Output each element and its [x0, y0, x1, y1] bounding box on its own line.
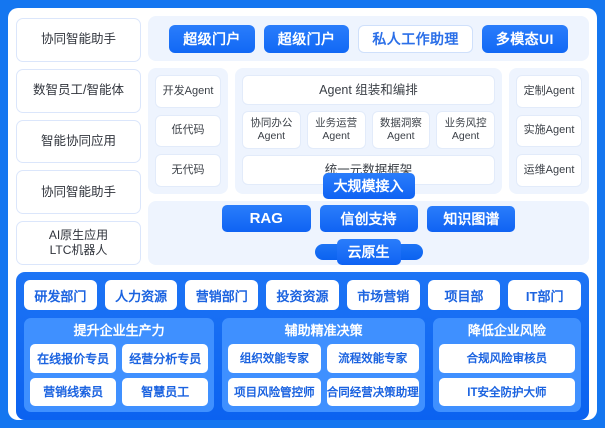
agent-line2: Agent	[315, 130, 357, 143]
pill-personal-assistant[interactable]: 私人工作助理	[358, 25, 472, 53]
chip-dev-agent[interactable]: 开发Agent	[155, 75, 221, 108]
sidebar-item-4[interactable]: 协同智能助手	[16, 170, 141, 214]
group-risk-reduction: 降低企业风险 合规风险审核员 IT安全防护大师	[433, 318, 581, 412]
sidebar-item-3[interactable]: 智能协同应用	[16, 120, 141, 164]
group-row: IT安全防护大师	[439, 378, 575, 406]
chip-office-agent[interactable]: 协同办公Agent	[242, 111, 301, 149]
chip-operations-agent[interactable]: 业务运营Agent	[307, 111, 366, 149]
group-decision-support: 辅助精准决策 组织效能专家 流程效能专家 项目风险管控师 合同经营决策助理	[222, 318, 425, 412]
sidebar-item-label: 数智员工/智能体	[33, 83, 124, 98]
group-title: 降低企业风险	[439, 323, 575, 339]
department-row: 研发部门 人力资源 营销部门 投资资源 市场营销 项目部 IT部门	[24, 280, 581, 310]
business-region: 研发部门 人力资源 营销部门 投资资源 市场营销 项目部 IT部门 提升企业生产…	[16, 272, 589, 420]
agent-chip-row: 协同办公Agent 业务运营Agent 数据洞察Agent 业务风控Agent	[242, 111, 495, 149]
dept-it[interactable]: IT部门	[508, 280, 581, 310]
pill-large-scale-access[interactable]: 大规模接入	[323, 173, 415, 199]
agent-line1: 数据洞察	[380, 117, 422, 130]
chip-custom-agent[interactable]: 定制Agent	[516, 75, 582, 108]
upper-right-column: 超级门户 超级门户 私人工作助理 多模态UI 开发Agent 低代码 无代码 A…	[148, 16, 589, 265]
chip-project-risk-controller[interactable]: 项目风险管控师	[228, 378, 320, 406]
chip-online-quotation-specialist[interactable]: 在线报价专员	[30, 344, 116, 372]
capability-lower-row: 大规模接入 信创支持 云原生 多云适配 多租户	[315, 244, 423, 260]
agent-line1: 业务运营	[315, 117, 357, 130]
architecture-card: 协同智能助手 数智员工/智能体 智能协同应用 协同智能助手 AI原生应用 LTC…	[8, 8, 597, 420]
page-background: 协同智能助手 数智员工/智能体 智能协同应用 协同智能助手 AI原生应用 LTC…	[0, 0, 605, 428]
dept-market[interactable]: 市场营销	[347, 280, 420, 310]
chip-low-code[interactable]: 低代码	[155, 115, 221, 148]
pill-xinchuang-support[interactable]: 信创支持	[330, 206, 408, 232]
pill-rag[interactable]: RAG	[222, 205, 311, 232]
sidebar-item-2[interactable]: 数智员工/智能体	[16, 69, 141, 113]
sidebar-item-1[interactable]: 协同智能助手	[16, 18, 141, 62]
chip-risk-control-agent[interactable]: 业务风控Agent	[436, 111, 495, 149]
group-row: 在线报价专员 经营分析专员	[30, 344, 208, 372]
group-title: 辅助精准决策	[228, 323, 419, 339]
pill-multimodal-ui[interactable]: 多模态UI	[482, 25, 568, 53]
pill-knowledge-graph[interactable]: 知识图谱	[427, 206, 515, 232]
dept-investment[interactable]: 投资资源	[266, 280, 339, 310]
chip-contract-decision-assistant[interactable]: 合同经营决策助理	[327, 378, 419, 406]
upper-region: 协同智能助手 数智员工/智能体 智能协同应用 协同智能助手 AI原生应用 LTC…	[16, 16, 589, 265]
capability-panel: RAG Agent 知识图谱 大规模接入 信创支持 云原生 多云适配 多租户	[148, 201, 589, 265]
agent-line2: Agent	[380, 130, 422, 143]
sidebar-item-label: 协同智能助手	[41, 32, 116, 47]
agent-line1: 协同办公	[250, 117, 292, 130]
group-row: 项目风险管控师 合同经营决策助理	[228, 378, 419, 406]
group-title: 提升企业生产力	[30, 323, 208, 339]
sidebar-item-label: AI原生应用 LTC机器人	[49, 228, 108, 257]
dev-tools-panel: 开发Agent 低代码 无代码	[148, 68, 228, 194]
dept-project[interactable]: 项目部	[428, 280, 501, 310]
chip-it-security-master[interactable]: IT安全防护大师	[439, 378, 575, 406]
group-row: 合规风险审核员	[439, 344, 575, 372]
dept-hr[interactable]: 人力资源	[105, 280, 178, 310]
agent-line2: Agent	[250, 130, 292, 143]
group-row: 营销线索员 智慧员工	[30, 378, 208, 406]
top-pill-row: 超级门户 超级门户 私人工作助理 多模态UI	[148, 16, 589, 61]
pill-super-portal-2[interactable]: 超级门户	[264, 25, 350, 53]
chip-data-insight-agent[interactable]: 数据洞察Agent	[372, 111, 431, 149]
chip-process-efficiency-expert[interactable]: 流程效能专家	[327, 344, 419, 372]
sidebar-item-label: 智能协同应用	[41, 134, 116, 149]
agent-line1: 业务风控	[445, 117, 487, 130]
pill-super-portal-1[interactable]: 超级门户	[169, 25, 255, 53]
pill-cloud-native[interactable]: 云原生	[337, 239, 401, 265]
sidebar-item-label: 协同智能助手	[41, 185, 116, 200]
chip-business-analysis-specialist[interactable]: 经营分析专员	[122, 344, 208, 372]
chip-compliance-risk-auditor[interactable]: 合规风险审核员	[439, 344, 575, 372]
chip-smart-employee[interactable]: 智慧员工	[122, 378, 208, 406]
dept-marketing[interactable]: 营销部门	[185, 280, 258, 310]
chip-operations-maintenance-agent[interactable]: 运维Agent	[516, 154, 582, 187]
sidebar: 协同智能助手 数智员工/智能体 智能协同应用 协同智能助手 AI原生应用 LTC…	[16, 16, 141, 265]
chip-org-efficiency-expert[interactable]: 组织效能专家	[228, 344, 320, 372]
group-row: 组织效能专家 流程效能专家	[228, 344, 419, 372]
sidebar-item-5[interactable]: AI原生应用 LTC机器人	[16, 221, 141, 265]
chip-no-code[interactable]: 无代码	[155, 154, 221, 187]
group-productivity: 提升企业生产力 在线报价专员 经营分析专员 营销线索员 智慧员工	[24, 318, 214, 412]
agent-line2: Agent	[445, 130, 487, 143]
scenario-groups: 提升企业生产力 在线报价专员 经营分析专员 营销线索员 智慧员工 辅助精准决策 …	[24, 318, 581, 412]
dept-rd[interactable]: 研发部门	[24, 280, 97, 310]
chip-implementation-agent[interactable]: 实施Agent	[516, 115, 582, 148]
delivery-agents-panel: 定制Agent 实施Agent 运维Agent	[509, 68, 589, 194]
chip-marketing-lead-agent[interactable]: 营销线索员	[30, 378, 116, 406]
chip-agent-orchestration[interactable]: Agent 组装和编排	[242, 75, 495, 105]
